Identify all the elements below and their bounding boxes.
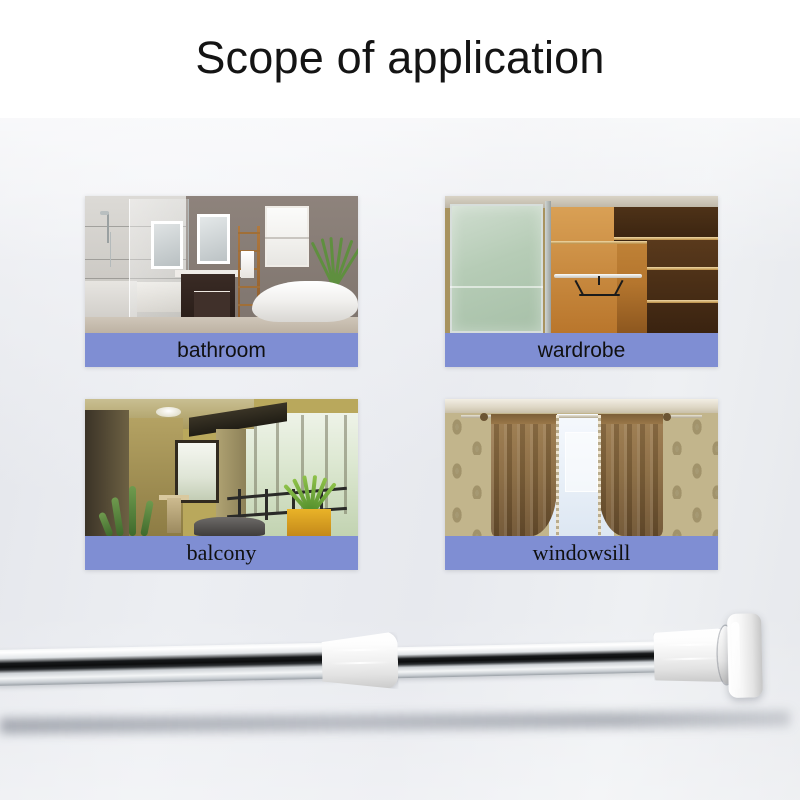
caption-bar-bathroom: bathroom [85, 333, 358, 367]
use-case-card-wardrobe[interactable]: wardrobe [445, 196, 718, 367]
bathroom-photo [85, 196, 358, 333]
caption-bar-balcony: balcony [85, 536, 358, 570]
tension-rod [0, 601, 755, 714]
use-case-card-balcony[interactable]: balcony [85, 399, 358, 570]
use-case-grid: bathroom [85, 196, 718, 570]
product-shadow [0, 710, 790, 734]
rod-chrome-tube-outer [0, 642, 340, 686]
use-case-label: windowsill [533, 542, 631, 564]
product-poster: Scope of application [0, 0, 800, 800]
page-title: Scope of application [195, 35, 604, 84]
caption-bar-windowsill: windowsill [445, 536, 718, 570]
caption-bar-wardrobe: wardrobe [445, 333, 718, 367]
wardrobe-photo [445, 196, 718, 333]
use-case-label: bathroom [177, 340, 266, 361]
use-case-label: balcony [187, 542, 257, 564]
use-case-card-windowsill[interactable]: windowsill [445, 399, 718, 570]
product-image-tension-rod [0, 600, 800, 800]
balcony-photo [85, 399, 358, 536]
rod-middle-collar [321, 631, 398, 691]
rod-wall-flange [727, 613, 763, 698]
use-case-card-bathroom[interactable]: bathroom [85, 196, 358, 367]
poster-header: Scope of application [0, 0, 800, 118]
windowsill-photo [445, 399, 718, 536]
use-case-label: wardrobe [538, 340, 626, 361]
rod-chrome-tube-inner [386, 641, 669, 678]
